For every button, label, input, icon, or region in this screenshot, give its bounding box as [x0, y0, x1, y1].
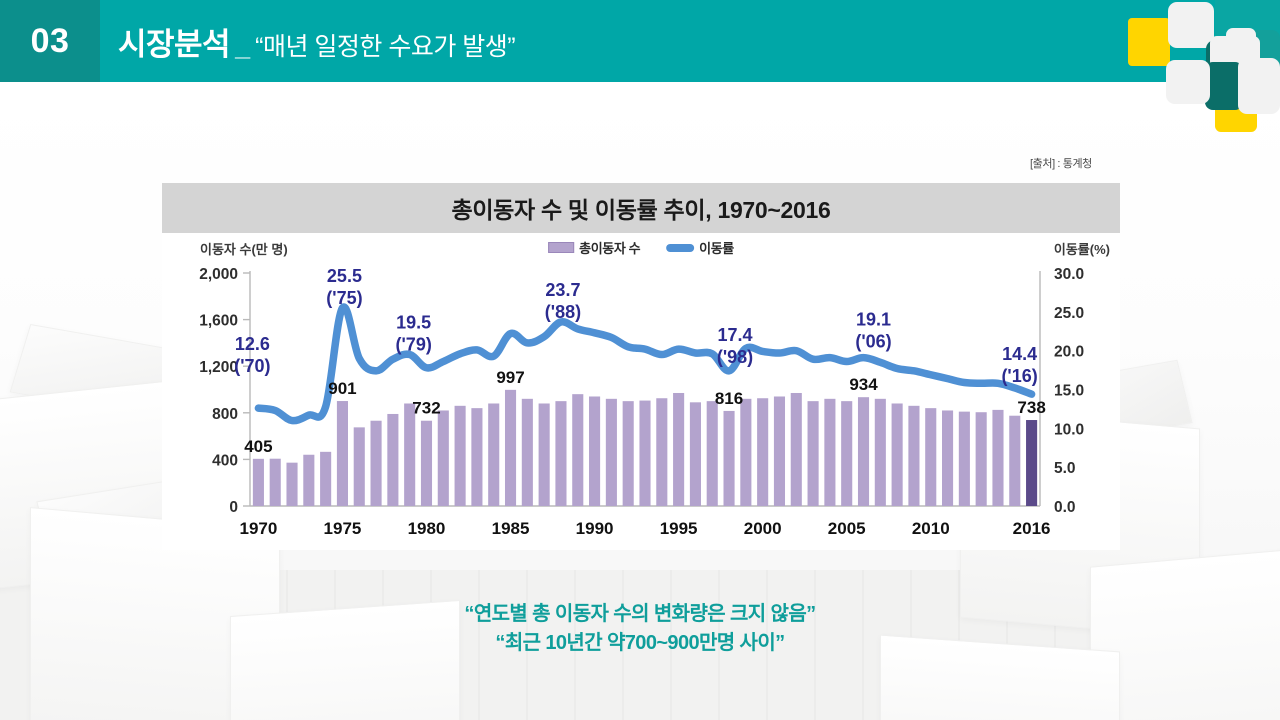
svg-text:('70): ('70) — [234, 356, 270, 376]
svg-text:('98): ('98) — [717, 347, 753, 367]
svg-text:0.0: 0.0 — [1054, 499, 1076, 516]
svg-text:901: 901 — [328, 379, 356, 398]
svg-text:2,000: 2,000 — [199, 266, 238, 283]
legend-label-bar: 총이동자 수 — [579, 238, 640, 257]
svg-text:('79): ('79) — [396, 335, 432, 355]
svg-text:('16): ('16) — [1001, 366, 1037, 386]
chart-svg: 04008001,2001,6002,0000.05.010.015.020.0… — [162, 263, 1120, 550]
caption-line-2: “최근 10년간 약700~900만명 사이” — [0, 629, 1280, 658]
slide-caption: “연도별 총 이동자 수의 변화량은 크지 않음” “최근 10년간 약700~… — [0, 600, 1280, 658]
chart-container: 총이동자 수 및 이동률 추이, 1970~2016 이동자 수(만 명) 이동… — [162, 183, 1120, 550]
svg-text:1980: 1980 — [408, 519, 446, 538]
header-title-group: 시장분석 _ “매년 일정한 수요가 발생” — [100, 19, 515, 64]
svg-text:17.4: 17.4 — [718, 325, 753, 345]
svg-text:800: 800 — [212, 406, 238, 423]
legend-item-line: 이동률 — [666, 238, 734, 257]
svg-text:19.1: 19.1 — [856, 310, 891, 330]
svg-text:1,200: 1,200 — [199, 359, 238, 376]
chart-title: 총이동자 수 및 이동률 추이, 1970~2016 — [451, 191, 830, 225]
svg-text:2005: 2005 — [828, 519, 866, 538]
slide-header: 03 시장분석 _ “매년 일정한 수요가 발생” — [0, 0, 1280, 82]
svg-text:15.0: 15.0 — [1054, 383, 1084, 400]
svg-text:1970: 1970 — [239, 519, 277, 538]
y2-axis-label: 이동률(%) — [1054, 239, 1110, 258]
svg-text:('06): ('06) — [855, 332, 891, 352]
svg-text:2000: 2000 — [744, 519, 782, 538]
y-axis-label: 이동자 수(만 명) — [200, 239, 288, 258]
svg-text:30.0: 30.0 — [1054, 266, 1084, 283]
svg-text:997: 997 — [496, 368, 524, 387]
svg-text:1985: 1985 — [492, 519, 530, 538]
svg-text:405: 405 — [244, 437, 272, 456]
svg-text:20.0: 20.0 — [1054, 344, 1084, 361]
svg-text:2016: 2016 — [1013, 519, 1051, 538]
page-subtitle: “매년 일정한 수요가 발생” — [255, 27, 515, 63]
svg-text:2010: 2010 — [912, 519, 950, 538]
legend-swatch-bar-icon — [548, 242, 574, 253]
caption-line-1: “연도별 총 이동자 수의 변화량은 크지 않음” — [0, 600, 1280, 629]
section-number: 03 — [31, 22, 70, 61]
chart-title-bar: 총이동자 수 및 이동률 추이, 1970~2016 — [162, 183, 1120, 233]
svg-text:12.6: 12.6 — [235, 334, 270, 354]
title-separator: _ — [230, 31, 255, 62]
svg-text:14.4: 14.4 — [1002, 344, 1037, 364]
page-title: 시장분석 — [118, 19, 230, 64]
chart-plot-area: 04008001,2001,6002,0000.05.010.015.020.0… — [162, 263, 1120, 550]
svg-text:732: 732 — [412, 399, 440, 418]
chart-legend: 총이동자 수 이동률 — [548, 238, 734, 257]
svg-text:738: 738 — [1017, 398, 1045, 417]
svg-text:1990: 1990 — [576, 519, 614, 538]
svg-text:1975: 1975 — [324, 519, 362, 538]
svg-text:('88): ('88) — [545, 302, 581, 322]
svg-text:10.0: 10.0 — [1054, 421, 1084, 438]
legend-item-bar: 총이동자 수 — [548, 238, 640, 257]
chart-axis-header: 이동자 수(만 명) 이동률(%) 총이동자 수 이동률 — [162, 233, 1120, 263]
svg-text:400: 400 — [212, 452, 238, 469]
svg-text:1995: 1995 — [660, 519, 698, 538]
svg-text:19.5: 19.5 — [396, 313, 431, 333]
svg-text:934: 934 — [849, 375, 878, 394]
legend-label-line: 이동률 — [699, 238, 734, 257]
svg-text:816: 816 — [715, 389, 743, 408]
svg-text:23.7: 23.7 — [545, 280, 580, 300]
chart-source-note: [출처] : 통계청 — [1030, 155, 1092, 171]
svg-text:1,600: 1,600 — [199, 313, 238, 330]
svg-text:25.0: 25.0 — [1054, 305, 1084, 322]
legend-swatch-line-icon — [666, 244, 694, 252]
section-number-badge: 03 — [0, 0, 100, 82]
svg-text:0: 0 — [229, 499, 238, 516]
svg-text:('75): ('75) — [326, 288, 362, 308]
svg-text:25.5: 25.5 — [327, 266, 362, 286]
svg-text:5.0: 5.0 — [1054, 460, 1076, 477]
corner-block-decoration — [1110, 0, 1280, 132]
